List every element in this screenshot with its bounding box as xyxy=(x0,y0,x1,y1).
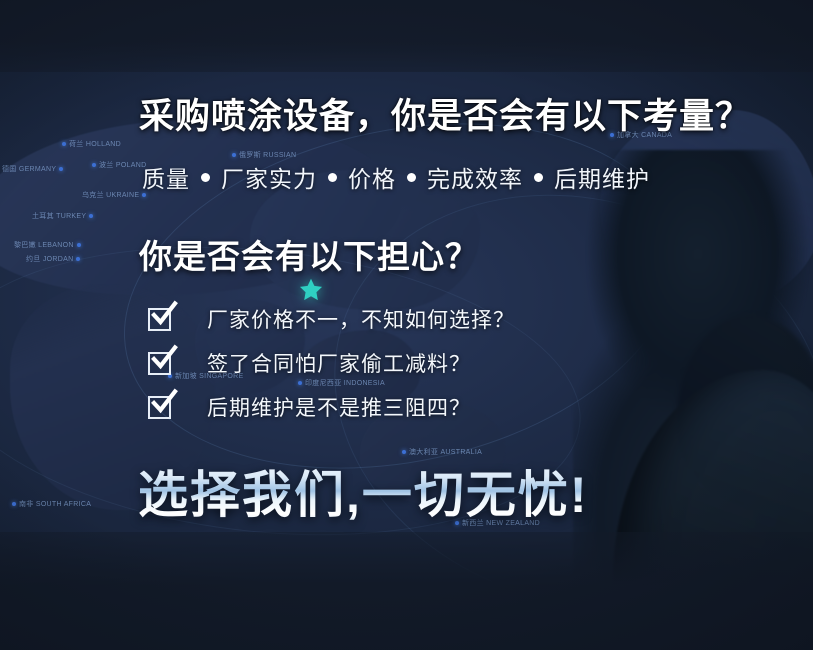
feature-item: 价格 xyxy=(348,160,396,194)
bullet-separator-icon xyxy=(328,173,337,182)
list-item: 后期维护是不是推三阻四？ xyxy=(148,391,515,423)
list-item: 厂家价格不一，不知如何选择？ xyxy=(148,303,515,335)
feature-item: 后期维护 xyxy=(554,160,650,194)
checkbox-checked-icon xyxy=(148,308,171,331)
list-item-label: 厂家价格不一，不知如何选择？ xyxy=(207,304,515,334)
page-title: 采购喷涂设备，你是否会有以下考量？ xyxy=(139,88,751,139)
list-item: 签了合同怕厂家偷工减料？ xyxy=(148,347,515,379)
feature-item: 完成效率 xyxy=(427,160,523,194)
feature-list: 质量厂家实力价格完成效率后期维护 xyxy=(142,160,650,194)
slogan-wrap: 选择我们,一切无忧! xyxy=(138,455,589,527)
bullet-separator-icon xyxy=(407,173,416,182)
checkbox-checked-icon xyxy=(148,396,171,419)
promo-banner: 荷兰 HOLLAND波兰 POLAND德国 GERMANY乌克兰 UKRAINE… xyxy=(0,0,813,650)
slogan: 选择我们,一切无忧! xyxy=(138,455,589,527)
feature-item: 厂家实力 xyxy=(221,160,317,194)
bullet-separator-icon xyxy=(534,173,543,182)
bullet-separator-icon xyxy=(201,173,210,182)
feature-item: 质量 xyxy=(142,160,190,194)
section-subtitle: 你是否会有以下担心？ xyxy=(139,230,479,278)
checkbox-checked-icon xyxy=(148,352,171,375)
list-item-label: 签了合同怕厂家偷工减料？ xyxy=(207,348,471,378)
concern-checklist: 厂家价格不一，不知如何选择？签了合同怕厂家偷工减料？后期维护是不是推三阻四？ xyxy=(148,303,515,423)
list-item-label: 后期维护是不是推三阻四？ xyxy=(207,392,471,422)
content-layer: 采购喷涂设备，你是否会有以下考量？ 质量厂家实力价格完成效率后期维护 你是否会有… xyxy=(0,0,813,650)
